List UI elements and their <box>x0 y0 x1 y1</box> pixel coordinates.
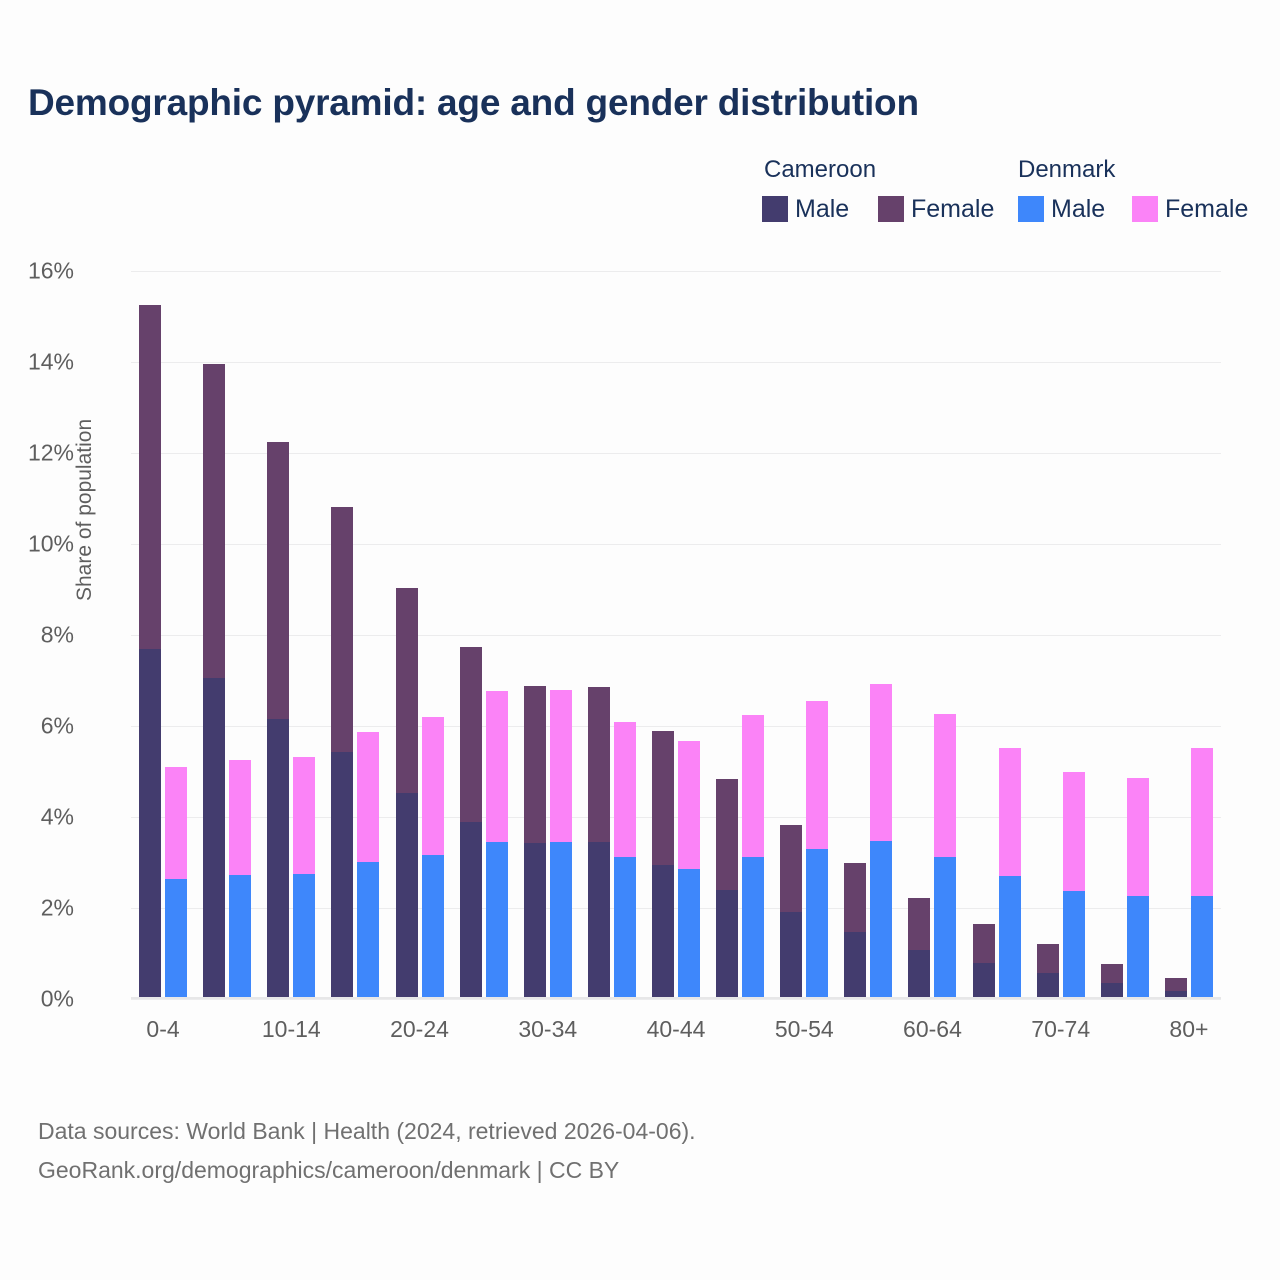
x-axis-tick-label-0-4: 0-4 <box>146 1016 179 1043</box>
age-group-15-19 <box>331 271 379 999</box>
bar-cameroon-80+[interactable] <box>1165 978 1187 999</box>
legend-label-denmark-male: Male <box>1051 196 1105 222</box>
bar-denmark-65-69-male-segment[interactable] <box>999 876 1021 999</box>
bar-cameroon-20-24-female-segment[interactable] <box>396 588 418 794</box>
bar-denmark-0-4[interactable] <box>165 767 187 1000</box>
bar-cameroon-50-54[interactable] <box>780 825 802 999</box>
bar-cameroon-35-39-female-segment[interactable] <box>588 687 610 842</box>
bar-cameroon-70-74[interactable] <box>1037 944 1059 999</box>
y-axis-tick-label: 6% <box>0 713 74 740</box>
age-group-80+ <box>1165 271 1213 999</box>
bar-denmark-30-34-male-segment[interactable] <box>550 842 572 999</box>
x-axis-tick-label-70-74: 70-74 <box>1031 1016 1090 1043</box>
bar-denmark-40-44[interactable] <box>678 741 700 999</box>
bar-denmark-35-39-male-segment[interactable] <box>614 857 636 999</box>
age-group-60-64 <box>908 271 956 999</box>
bar-cameroon-10-14-female-segment[interactable] <box>267 442 289 719</box>
y-axis-tick-label: 14% <box>0 349 74 376</box>
legend-swatch-cameroon-male <box>762 196 788 222</box>
bar-denmark-65-69[interactable] <box>999 748 1021 999</box>
y-axis-label: Share of population <box>73 419 97 601</box>
legend-item-denmark-male[interactable]: Male <box>1018 196 1105 222</box>
bar-cameroon-15-19-male-segment[interactable] <box>331 752 353 999</box>
bar-denmark-60-64-male-segment[interactable] <box>934 857 956 999</box>
bar-denmark-70-74-male-segment[interactable] <box>1063 891 1085 999</box>
bar-cameroon-25-29-female-segment[interactable] <box>460 647 482 823</box>
age-group-25-29 <box>460 271 508 999</box>
bar-cameroon-35-39[interactable] <box>588 687 610 999</box>
age-group-50-54 <box>780 271 828 999</box>
age-group-35-39 <box>588 271 636 999</box>
bar-denmark-50-54-female-segment[interactable] <box>806 701 828 849</box>
bar-cameroon-25-29[interactable] <box>460 647 482 999</box>
bar-cameroon-70-74-female-segment[interactable] <box>1037 944 1059 973</box>
bar-cameroon-65-69[interactable] <box>973 924 995 999</box>
legend-label-cameroon-female: Female <box>911 196 994 222</box>
bar-denmark-80+[interactable] <box>1191 748 1213 999</box>
y-axis-tick-label: 4% <box>0 804 74 831</box>
bar-denmark-25-29-female-segment[interactable] <box>486 691 508 842</box>
legend-item-denmark-female[interactable]: Female <box>1132 196 1248 222</box>
x-axis-tick-label-50-54: 50-54 <box>775 1016 834 1043</box>
chart-legend: Cameroon Denmark Male Female Male Female <box>700 156 1245 236</box>
bar-cameroon-5-9-female-segment[interactable] <box>203 364 225 678</box>
x-axis-tick-label-10-14: 10-14 <box>262 1016 321 1043</box>
bar-denmark-80+-male-segment[interactable] <box>1191 896 1213 999</box>
bar-denmark-55-59-female-segment[interactable] <box>870 684 892 841</box>
y-axis-tick-label: 0% <box>0 986 74 1013</box>
bar-denmark-60-64[interactable] <box>934 714 956 999</box>
bar-cameroon-60-64-female-segment[interactable] <box>908 898 930 950</box>
bar-denmark-55-59[interactable] <box>870 684 892 999</box>
legend-item-cameroon-male[interactable]: Male <box>762 196 849 222</box>
bar-cameroon-45-49[interactable] <box>716 779 738 999</box>
legend-label-cameroon-male: Male <box>795 196 849 222</box>
bar-cameroon-30-34-male-segment[interactable] <box>524 843 546 999</box>
age-group-40-44 <box>652 271 700 999</box>
bar-cameroon-30-34[interactable] <box>524 686 546 999</box>
bar-cameroon-45-49-female-segment[interactable] <box>716 779 738 890</box>
bar-denmark-60-64-female-segment[interactable] <box>934 714 956 857</box>
legend-label-denmark-female: Female <box>1165 196 1248 222</box>
x-axis-tick-label-80+: 80+ <box>1169 1016 1208 1043</box>
age-group-30-34 <box>524 271 572 999</box>
bar-cameroon-45-49-male-segment[interactable] <box>716 890 738 999</box>
y-axis-tick-label: 2% <box>0 895 74 922</box>
age-group-0-4 <box>139 271 187 999</box>
bar-denmark-50-54[interactable] <box>806 701 828 999</box>
bar-cameroon-65-69-female-segment[interactable] <box>973 924 995 962</box>
age-group-70-74 <box>1037 271 1085 999</box>
bar-denmark-0-4-female-segment[interactable] <box>165 767 187 880</box>
bar-denmark-45-49-male-segment[interactable] <box>742 857 764 999</box>
bar-cameroon-0-4[interactable] <box>139 305 161 999</box>
bar-denmark-20-24-male-segment[interactable] <box>422 855 444 999</box>
bar-denmark-5-9-male-segment[interactable] <box>229 875 251 999</box>
x-axis-tick-label-30-34: 30-34 <box>518 1016 577 1043</box>
bar-cameroon-5-9-male-segment[interactable] <box>203 678 225 999</box>
bar-cameroon-35-39-male-segment[interactable] <box>588 842 610 999</box>
y-axis-tick-label: 10% <box>0 531 74 558</box>
bar-denmark-0-4-male-segment[interactable] <box>165 879 187 999</box>
bar-cameroon-60-64-male-segment[interactable] <box>908 950 930 999</box>
chart-page: Demographic pyramid: age and gender dist… <box>0 0 1280 1280</box>
age-group-5-9 <box>203 271 251 999</box>
legend-group-title-denmark: Denmark <box>1018 156 1115 184</box>
bar-cameroon-15-19[interactable] <box>331 507 353 999</box>
x-axis-tick-label-40-44: 40-44 <box>647 1016 706 1043</box>
bars-layer <box>131 271 1221 999</box>
bar-cameroon-50-54-female-segment[interactable] <box>780 825 802 911</box>
page-title: Demographic pyramid: age and gender dist… <box>28 82 1128 124</box>
bar-denmark-15-19-female-segment[interactable] <box>357 732 379 862</box>
bar-denmark-20-24-female-segment[interactable] <box>422 717 444 855</box>
bar-denmark-5-9-female-segment[interactable] <box>229 760 251 875</box>
bar-denmark-15-19[interactable] <box>357 732 379 999</box>
footer-attribution: GeoRank.org/demographics/cameroon/denmar… <box>38 1151 1188 1190</box>
bar-denmark-10-14-female-segment[interactable] <box>293 757 315 875</box>
bar-denmark-10-14[interactable] <box>293 757 315 1000</box>
bar-denmark-75-79-female-segment[interactable] <box>1127 778 1149 896</box>
footer: Data sources: World Bank | Health (2024,… <box>38 1112 1188 1190</box>
footer-data-sources: Data sources: World Bank | Health (2024,… <box>38 1112 1188 1151</box>
legend-swatch-cameroon-female <box>878 196 904 222</box>
age-group-55-59 <box>844 271 892 999</box>
bar-cameroon-40-44[interactable] <box>652 731 674 999</box>
age-group-20-24 <box>396 271 444 999</box>
bar-cameroon-50-54-male-segment[interactable] <box>780 912 802 999</box>
bar-denmark-10-14-male-segment[interactable] <box>293 874 315 999</box>
age-group-75-79 <box>1101 271 1149 999</box>
bar-cameroon-25-29-male-segment[interactable] <box>460 822 482 999</box>
gridline <box>131 999 1221 1000</box>
bar-cameroon-30-34-female-segment[interactable] <box>524 686 546 843</box>
bar-denmark-70-74[interactable] <box>1063 772 1085 999</box>
legend-swatch-denmark-female <box>1132 196 1158 222</box>
legend-swatch-denmark-male <box>1018 196 1044 222</box>
bar-cameroon-15-19-female-segment[interactable] <box>331 507 353 752</box>
x-axis-tick-label-20-24: 20-24 <box>390 1016 449 1043</box>
bar-denmark-25-29-male-segment[interactable] <box>486 842 508 999</box>
legend-item-cameroon-female[interactable]: Female <box>878 196 994 222</box>
bar-denmark-80+-female-segment[interactable] <box>1191 748 1213 896</box>
bar-cameroon-0-4-male-segment[interactable] <box>139 649 161 999</box>
x-axis-tick-label-60-64: 60-64 <box>903 1016 962 1043</box>
age-group-65-69 <box>973 271 1021 999</box>
bar-cameroon-60-64[interactable] <box>908 898 930 999</box>
bar-denmark-35-39-female-segment[interactable] <box>614 722 636 857</box>
bar-denmark-35-39[interactable] <box>614 722 636 999</box>
bar-cameroon-5-9[interactable] <box>203 364 225 999</box>
bar-denmark-5-9[interactable] <box>229 760 251 999</box>
bar-denmark-50-54-male-segment[interactable] <box>806 849 828 999</box>
y-axis-tick-label: 8% <box>0 622 74 649</box>
bar-cameroon-75-79[interactable] <box>1101 964 1123 999</box>
x-axis-line <box>131 997 1221 999</box>
y-axis-tick-label: 12% <box>0 440 74 467</box>
bar-denmark-75-79-male-segment[interactable] <box>1127 896 1149 999</box>
bar-denmark-40-44-female-segment[interactable] <box>678 741 700 869</box>
bar-cameroon-40-44-male-segment[interactable] <box>652 865 674 999</box>
bar-denmark-70-74-female-segment[interactable] <box>1063 772 1085 891</box>
bar-cameroon-55-59-female-segment[interactable] <box>844 863 866 932</box>
bar-cameroon-65-69-male-segment[interactable] <box>973 963 995 999</box>
age-group-10-14 <box>267 271 315 999</box>
bar-denmark-75-79[interactable] <box>1127 778 1149 999</box>
legend-group-title-cameroon: Cameroon <box>764 156 876 184</box>
bar-denmark-55-59-male-segment[interactable] <box>870 841 892 999</box>
bar-cameroon-10-14[interactable] <box>267 442 289 999</box>
bar-cameroon-80+-female-segment[interactable] <box>1165 978 1187 991</box>
bar-cameroon-55-59[interactable] <box>844 863 866 999</box>
bar-denmark-25-29[interactable] <box>486 691 508 999</box>
bar-cameroon-10-14-male-segment[interactable] <box>267 719 289 999</box>
bar-cameroon-75-79-female-segment[interactable] <box>1101 964 1123 984</box>
bar-cameroon-40-44-female-segment[interactable] <box>652 731 674 865</box>
bar-denmark-15-19-male-segment[interactable] <box>357 862 379 999</box>
bar-cameroon-55-59-male-segment[interactable] <box>844 932 866 999</box>
plot-area: Share of population 0%2%4%6%8%10%12%14%1… <box>131 271 1221 999</box>
bar-denmark-40-44-male-segment[interactable] <box>678 869 700 999</box>
bar-denmark-45-49[interactable] <box>742 715 764 999</box>
bar-cameroon-0-4-female-segment[interactable] <box>139 305 161 649</box>
y-axis-tick-label: 16% <box>0 258 74 285</box>
bar-denmark-30-34-female-segment[interactable] <box>550 690 572 842</box>
bar-cameroon-20-24-male-segment[interactable] <box>396 793 418 999</box>
bar-denmark-20-24[interactable] <box>422 717 444 999</box>
bar-denmark-45-49-female-segment[interactable] <box>742 715 764 857</box>
bar-denmark-65-69-female-segment[interactable] <box>999 748 1021 876</box>
bar-denmark-30-34[interactable] <box>550 690 572 999</box>
bar-cameroon-20-24[interactable] <box>396 588 418 999</box>
bar-cameroon-70-74-male-segment[interactable] <box>1037 973 1059 999</box>
age-group-45-49 <box>716 271 764 999</box>
